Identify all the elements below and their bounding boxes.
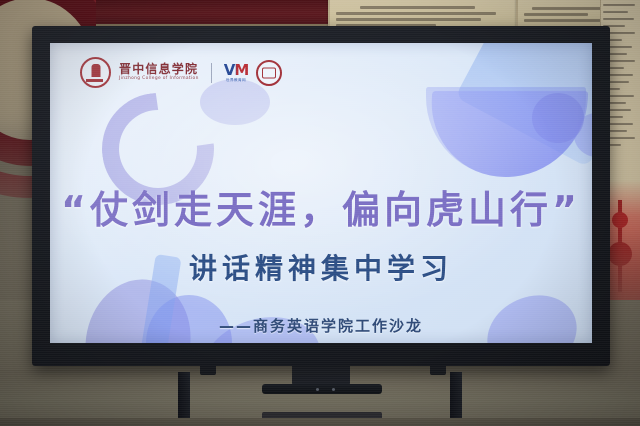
university-seal-icon	[80, 57, 111, 88]
partner-seal-icon	[256, 60, 282, 86]
red-banner-strip	[96, 0, 328, 26]
university-name-en: Jinzhong College of Information	[119, 77, 199, 82]
university-name-block: 晋中信息学院 Jinzhong College of Information	[119, 63, 199, 81]
stand-clip-left	[200, 366, 216, 375]
placard-text-line	[336, 12, 496, 15]
slide-subtitle: 讲话精神集中学习	[50, 247, 592, 287]
stand-neck	[292, 366, 350, 386]
partner-mark-text: VM	[224, 63, 249, 78]
partner-logo: VM 世界教育网	[224, 63, 249, 83]
slide-logo-bar: 晋中信息学院 Jinzhong College of Information V…	[80, 57, 282, 88]
placard-text-line	[360, 6, 475, 9]
logo-divider	[211, 63, 212, 83]
tv-screen[interactable]: 晋中信息学院 Jinzhong College of Information V…	[50, 43, 592, 343]
stand-base	[262, 384, 382, 394]
stand-clip-right	[430, 366, 446, 375]
university-name-cn: 晋中信息学院	[119, 63, 199, 76]
wall-mounted-television: 晋中信息学院 Jinzhong College of Information V…	[32, 26, 610, 366]
partner-sub-text: 世界教育网	[226, 79, 246, 83]
screenshot-root: 晋中信息学院 Jinzhong College of Information V…	[0, 0, 640, 426]
table-front-edge	[0, 418, 640, 426]
placard-text-line	[336, 18, 481, 21]
tower-upper-sphere	[612, 212, 628, 228]
slide-footer: ——商务英语学院工作沙龙	[50, 315, 592, 336]
stand-screw-left	[316, 388, 319, 391]
stand-screw-right	[332, 388, 335, 391]
placard-text-line	[524, 13, 588, 16]
slide-title-main: “仗剑走天涯，偏向虎山行”	[50, 179, 592, 234]
